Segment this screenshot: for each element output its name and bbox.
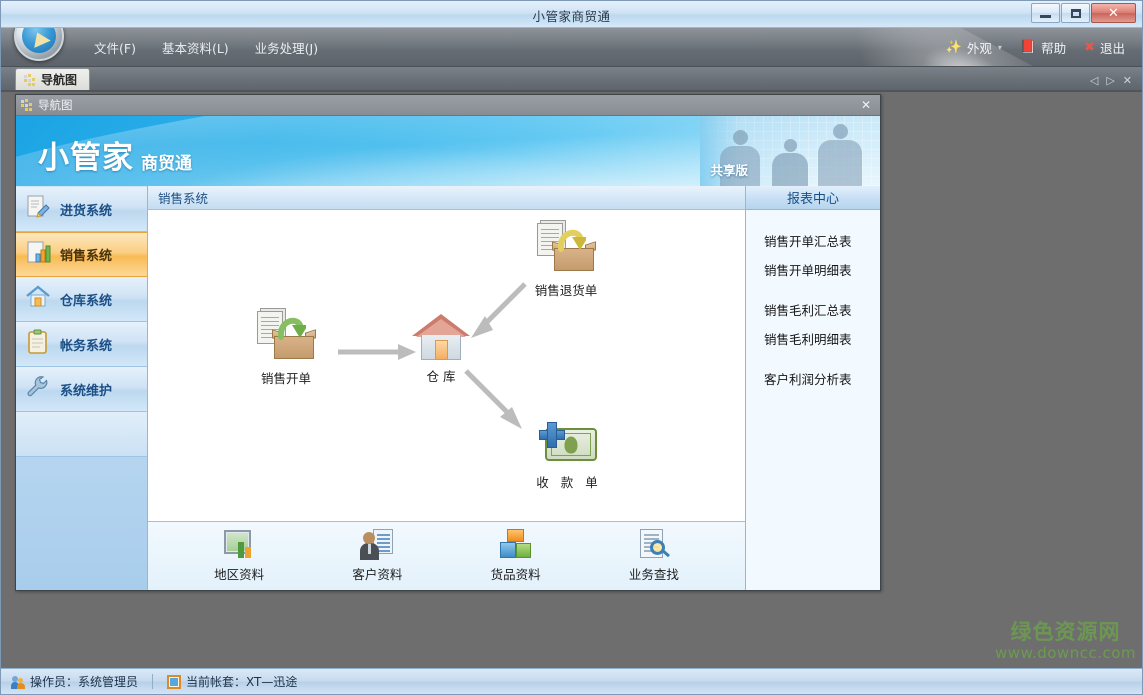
sidebar-item-label: 销售系统 [60, 245, 112, 264]
doc-box-icon [255, 308, 317, 364]
report-item-gross-profit-detail[interactable]: 销售毛利明细表 [746, 324, 880, 353]
watermark-url: www.downcc.com [995, 644, 1136, 662]
sidebar-item-label: 系统维护 [60, 380, 112, 399]
doc-box-icon [535, 220, 597, 276]
sidebar-filler [16, 412, 147, 457]
toolbar-item-goods-data[interactable]: 货品资料 [470, 529, 562, 583]
navigation-map-window: 导航图 ✕ 小管家 商贸通 共享版 [15, 94, 881, 591]
menu-item-file[interactable]: 文件(F) [83, 33, 147, 62]
search-doc-icon [637, 529, 671, 561]
sales-icon [25, 240, 51, 270]
menu-item-appearance[interactable]: ✨ 外观 ▾ [937, 35, 1011, 60]
toolbar-item-business-search[interactable]: 业务查找 [608, 529, 700, 583]
menu-items-left: 文件(F) 基本资料(L) 业务处理(J) [79, 33, 329, 62]
accounting-icon [25, 329, 51, 359]
document-tab-strip: 导航图 ◁ ▷ ✕ [1, 67, 1142, 91]
report-item-sales-detail[interactable]: 销售开单明细表 [746, 255, 880, 284]
toolbar-item-label: 客户资料 [352, 564, 402, 583]
goods-cubes-icon [499, 529, 533, 561]
workflow-diagram: 销售开单 仓 库 [148, 210, 745, 522]
window-title: 小管家商贸通 [1, 6, 1142, 25]
product-banner: 小管家 商贸通 共享版 [16, 116, 880, 186]
site-watermark: 绿色资源网 www.downcc.com [995, 616, 1136, 662]
toolbar-item-label: 业务查找 [629, 564, 679, 583]
menu-items-right: ✨ 外观 ▾ 📕 帮助 ✖ 退出 [937, 35, 1142, 60]
tab-close-button[interactable]: ✕ [1123, 74, 1132, 87]
person-figure [772, 139, 808, 186]
maximize-icon [1071, 9, 1081, 18]
close-button[interactable]: ✕ [1091, 3, 1136, 23]
toolbar-item-customer-data[interactable]: 客户资料 [331, 529, 423, 583]
status-account-set: 当前帐套：XT—迅途 [167, 673, 311, 690]
users-icon [11, 675, 25, 689]
sidebar-item-sales[interactable]: 销售系统 [16, 232, 147, 277]
sidebar-item-label: 进货系统 [60, 200, 112, 219]
workflow-node-sales-return[interactable]: 销售退货单 [511, 220, 621, 299]
workflow-node-label: 仓 库 [386, 366, 496, 385]
brand-name: 小管家 [38, 132, 134, 177]
account-book-icon [167, 675, 181, 689]
navmap-icon [24, 74, 36, 86]
status-account-set-text: 当前帐套：XT—迅途 [186, 673, 297, 690]
workflow-node-label: 销售开单 [231, 368, 341, 387]
navmap-icon [21, 99, 33, 111]
region-chart-icon [222, 529, 256, 561]
tab-prev-button[interactable]: ◁ [1090, 74, 1098, 87]
toolbar-item-region-data[interactable]: 地区资料 [193, 529, 285, 583]
toolbar-item-label: 货品资料 [491, 564, 541, 583]
window-controls: ✕ [1031, 3, 1136, 23]
sidebar-item-accounting[interactable]: 帐务系统 [16, 322, 147, 367]
customer-card-icon [360, 529, 394, 561]
tab-navigation-map[interactable]: 导航图 [15, 68, 90, 90]
report-item-gross-profit-summary[interactable]: 销售毛利汇总表 [746, 295, 880, 324]
title-bar: 小管家商贸通 ✕ [1, 1, 1142, 28]
sidebar-item-warehouse[interactable]: 仓库系统 [16, 277, 147, 322]
status-divider [152, 674, 153, 689]
minimize-button[interactable] [1031, 3, 1060, 23]
tab-nav-controls: ◁ ▷ ✕ [1090, 74, 1142, 90]
workflow-node-sales-bill[interactable]: 销售开单 [231, 308, 341, 387]
menu-item-help[interactable]: 📕 帮助 [1011, 35, 1075, 60]
book-icon: 📕 [1020, 41, 1036, 54]
center-header-title: 销售系统 [158, 188, 208, 207]
exit-cross-icon: ✖ [1084, 41, 1095, 54]
report-center-panel: 报表中心 销售开单汇总表 销售开单明细表 销售毛利汇总表 销售毛利明细表 客户利… [745, 186, 880, 590]
child-window-body: 小管家 商贸通 共享版 [16, 116, 880, 590]
brand-subtitle: 商贸通 [141, 149, 192, 177]
status-bar: 操作员：系统管理员 当前帐套：XT—迅途 [1, 668, 1142, 694]
content-row: 进货系统 销售系统 [16, 186, 880, 590]
sidebar-item-label: 仓库系统 [60, 290, 112, 309]
report-group-gap [746, 353, 880, 364]
app-logo-orb[interactable] [14, 28, 64, 61]
child-window-title-bar: 导航图 ✕ [16, 95, 880, 116]
module-sidebar: 进货系统 销售系统 [16, 186, 148, 590]
tab-next-button[interactable]: ▷ [1106, 74, 1114, 87]
application-window: 小管家商贸通 ✕ 文件(F) 基本资料(L) 业务处理(J) ✨ 外观 ▾ 📕 … [0, 0, 1143, 695]
toolbar-item-label: 地区资料 [214, 564, 264, 583]
wand-icon: ✨ [946, 41, 962, 54]
workflow-node-label: 销售退货单 [511, 280, 621, 299]
money-icon [539, 420, 599, 468]
report-item-customer-profit-analysis[interactable]: 客户利润分析表 [746, 364, 880, 393]
workflow-node-receipt[interactable]: 收 款 单 [514, 420, 624, 491]
menu-item-appearance-label: 外观 [967, 38, 992, 57]
warehouse-icon [25, 284, 51, 314]
report-center-header: 报表中心 [746, 186, 880, 210]
watermark-main: 绿色资源网 [995, 616, 1136, 646]
menu-item-basic-data[interactable]: 基本资料(L) [151, 33, 240, 62]
chevron-down-icon: ▾ [998, 43, 1002, 52]
report-group-gap [746, 284, 880, 295]
status-operator: 操作员：系统管理员 [11, 673, 152, 690]
menu-item-exit-label: 退出 [1100, 38, 1125, 57]
workflow-node-warehouse[interactable]: 仓 库 [386, 310, 496, 385]
edition-badge: 共享版 [710, 160, 748, 179]
report-list: 销售开单汇总表 销售开单明细表 销售毛利汇总表 销售毛利明细表 客户利润分析表 [746, 210, 880, 590]
menu-item-exit[interactable]: ✖ 退出 [1075, 35, 1134, 60]
wrench-icon [25, 374, 51, 404]
data-shortcut-toolbar: 地区资料 客户资料 [148, 522, 745, 590]
sidebar-item-label: 帐务系统 [60, 335, 112, 354]
person-figure [818, 124, 862, 186]
menu-bar: 文件(F) 基本资料(L) 业务处理(J) ✨ 外观 ▾ 📕 帮助 ✖ 退出 [1, 28, 1142, 67]
maximize-button[interactable] [1061, 3, 1090, 23]
brand-logo: 小管家 商贸通 [38, 132, 192, 177]
minimize-icon [1040, 15, 1051, 18]
tab-label: 导航图 [41, 71, 77, 88]
child-window-close-button[interactable]: ✕ [856, 98, 876, 112]
child-window-title: 导航图 [38, 97, 73, 113]
app-logo-icon [22, 28, 56, 53]
center-column: 销售系统 [148, 186, 745, 590]
house-icon [412, 310, 470, 362]
center-panel-header: 销售系统 [148, 186, 745, 210]
sidebar-item-maintenance[interactable]: 系统维护 [16, 367, 147, 412]
mdi-workspace: 导航图 ✕ 小管家 商贸通 共享版 [1, 91, 1142, 668]
purchase-icon [25, 194, 51, 224]
menu-item-business[interactable]: 业务处理(J) [244, 33, 329, 62]
sidebar-item-purchase[interactable]: 进货系统 [16, 187, 147, 232]
menu-item-help-label: 帮助 [1041, 38, 1066, 57]
report-item-sales-summary[interactable]: 销售开单汇总表 [746, 226, 880, 255]
workflow-node-label: 收 款 单 [514, 472, 624, 491]
status-operator-text: 操作员：系统管理员 [30, 673, 138, 690]
